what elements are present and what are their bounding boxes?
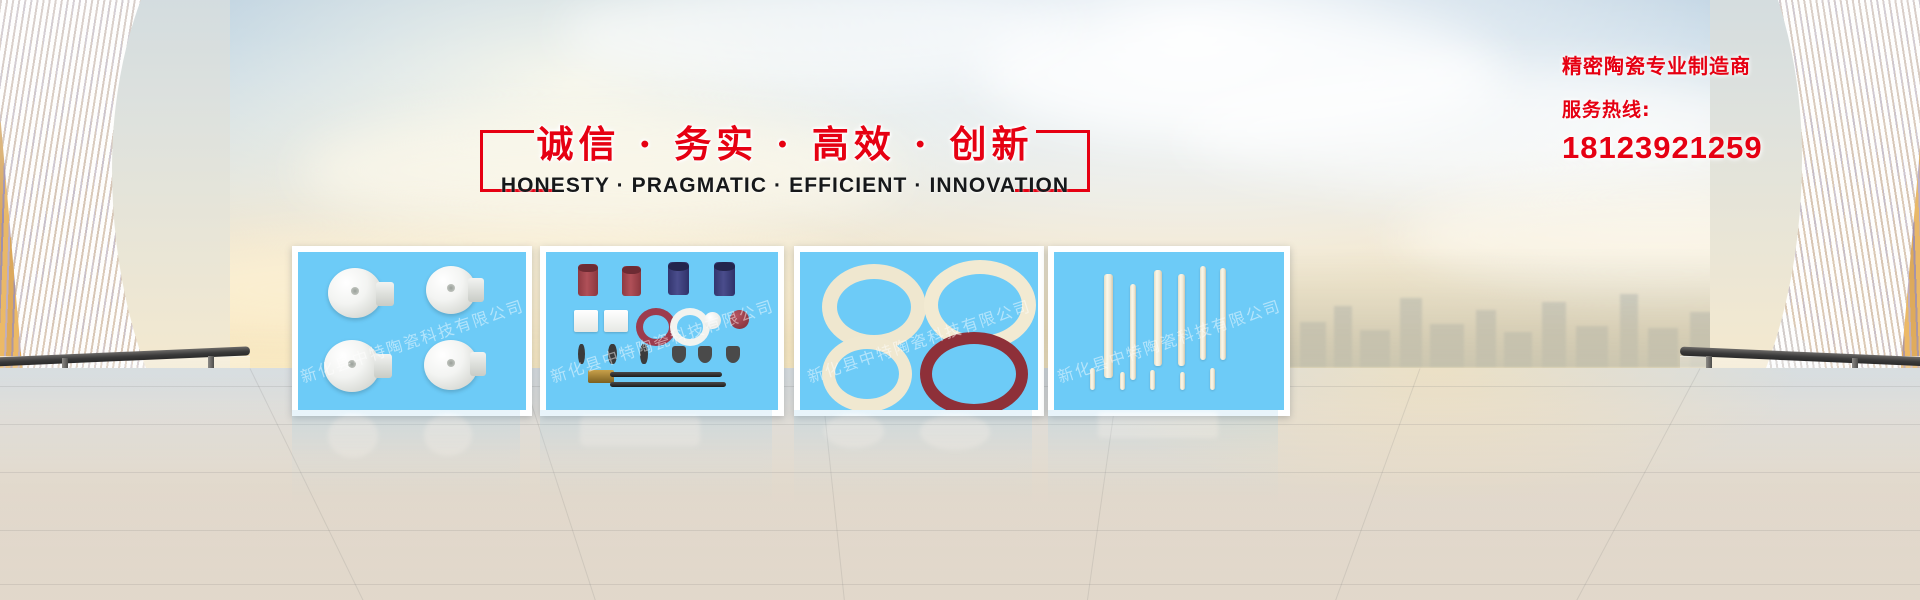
ceramic-pin — [1090, 368, 1095, 390]
ceramic-rod — [1200, 266, 1206, 360]
metal-clip — [698, 346, 712, 363]
black-wire — [610, 382, 726, 387]
ceramic-pin — [1180, 372, 1185, 390]
ceramic-rod — [1104, 274, 1113, 378]
red-ceramic-cap — [730, 310, 749, 329]
black-wire — [610, 372, 722, 377]
ceramic-socket — [328, 268, 382, 318]
ceramic-pin — [1120, 372, 1125, 390]
product-panel-row: 新化县中特陶瓷科技有限公司 — [0, 0, 1920, 600]
ceramic-rod — [1220, 268, 1226, 360]
panel-watermark: 新化县中特陶瓷科技有限公司 — [1054, 293, 1284, 388]
ceramic-rod — [1130, 284, 1136, 380]
panel-reflection — [794, 410, 1032, 510]
socket-tab — [468, 278, 484, 302]
panel-reflection — [292, 410, 520, 510]
ceramic-socket — [324, 340, 380, 392]
product-panel-ceramic-rings[interactable]: 新化县中特陶瓷科技有限公司 — [794, 246, 1044, 416]
dark-red-ceramic-ring — [920, 332, 1028, 410]
red-ceramic-tube — [578, 264, 598, 296]
blue-ceramic-tube — [668, 262, 689, 295]
metal-clip — [726, 346, 740, 363]
panel-reflection — [1048, 410, 1278, 510]
ceramic-rod — [1178, 274, 1185, 366]
ceramic-plate — [604, 310, 628, 332]
ceramic-pin — [1210, 368, 1215, 390]
metal-blade — [578, 344, 585, 364]
panel-reflection — [540, 410, 772, 510]
red-ceramic-tube — [622, 266, 641, 296]
metal-blade — [608, 344, 617, 364]
white-ceramic-ring — [670, 308, 710, 346]
cream-ceramic-ring-small — [822, 336, 912, 410]
ceramic-pin — [1150, 370, 1155, 390]
blue-ceramic-tube — [714, 262, 735, 296]
socket-tab — [374, 354, 392, 378]
metal-blade — [640, 344, 648, 364]
metal-clip — [672, 346, 686, 363]
product-panel-ceramic-rods[interactable]: 新化县中特陶瓷科技有限公司 — [1048, 246, 1290, 416]
product-panel-ceramic-lamp-sockets[interactable]: 新化县中特陶瓷科技有限公司 — [292, 246, 532, 416]
white-ceramic-cap — [704, 312, 721, 329]
ceramic-rod — [1154, 270, 1162, 366]
socket-tab — [376, 282, 394, 306]
hero-banner: 诚信 · 务实 · 高效 · 创新 HONESTY · PRAGMATIC · … — [0, 0, 1920, 600]
product-panel-ceramic-insulator-components[interactable]: 新化县中特陶瓷科技有限公司 — [540, 246, 784, 416]
ceramic-plate — [574, 310, 598, 332]
socket-tab — [470, 352, 486, 376]
